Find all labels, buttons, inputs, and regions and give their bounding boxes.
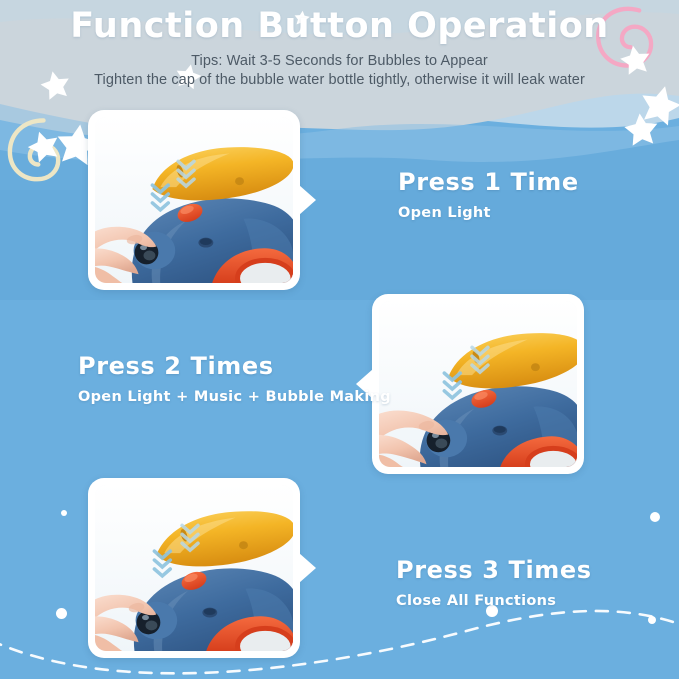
caption-step-3: Press 3 Times Close All Functions xyxy=(396,556,592,609)
product-photo-step-3 xyxy=(95,485,293,651)
step-1-subtext: Open Light xyxy=(398,205,579,221)
whale-toy-illustration xyxy=(379,301,577,467)
photo-panel-step-3[interactable] xyxy=(88,478,300,658)
infographic-stage: Function Button Operation Tips: Wait 3-5… xyxy=(0,0,679,679)
product-photo-step-1 xyxy=(95,117,293,283)
tips-line-2: Tighten the cap of the bubble water bott… xyxy=(0,72,679,88)
dot-decoration xyxy=(648,616,656,624)
step-1-heading: Press 1 Time xyxy=(398,168,579,196)
whale-toy-illustration xyxy=(95,485,293,651)
whale-toy-illustration xyxy=(95,117,293,283)
dot-decoration xyxy=(56,608,67,619)
caption-step-1: Press 1 Time Open Light xyxy=(398,168,579,221)
dot-decoration xyxy=(650,512,660,522)
photo-panel-step-1[interactable] xyxy=(88,110,300,290)
dot-decoration xyxy=(61,510,67,516)
step-3-subtext: Close All Functions xyxy=(396,593,592,609)
photo-panel-step-2[interactable] xyxy=(372,294,584,474)
arrow-pointer-step-1 xyxy=(299,185,316,215)
page-title: Function Button Operation xyxy=(0,6,679,46)
tips-line-1: Tips: Wait 3-5 Seconds for Bubbles to Ap… xyxy=(0,53,679,69)
arrow-pointer-step-3 xyxy=(299,553,316,583)
header: Function Button Operation Tips: Wait 3-5… xyxy=(0,0,679,88)
product-photo-step-2 xyxy=(379,301,577,467)
step-2-subtext: Open Light + Music + Bubble Making xyxy=(78,389,391,405)
caption-step-2: Press 2 Times Open Light + Music + Bubbl… xyxy=(78,352,391,405)
step-3-heading: Press 3 Times xyxy=(396,556,592,584)
step-2-heading: Press 2 Times xyxy=(78,352,391,380)
